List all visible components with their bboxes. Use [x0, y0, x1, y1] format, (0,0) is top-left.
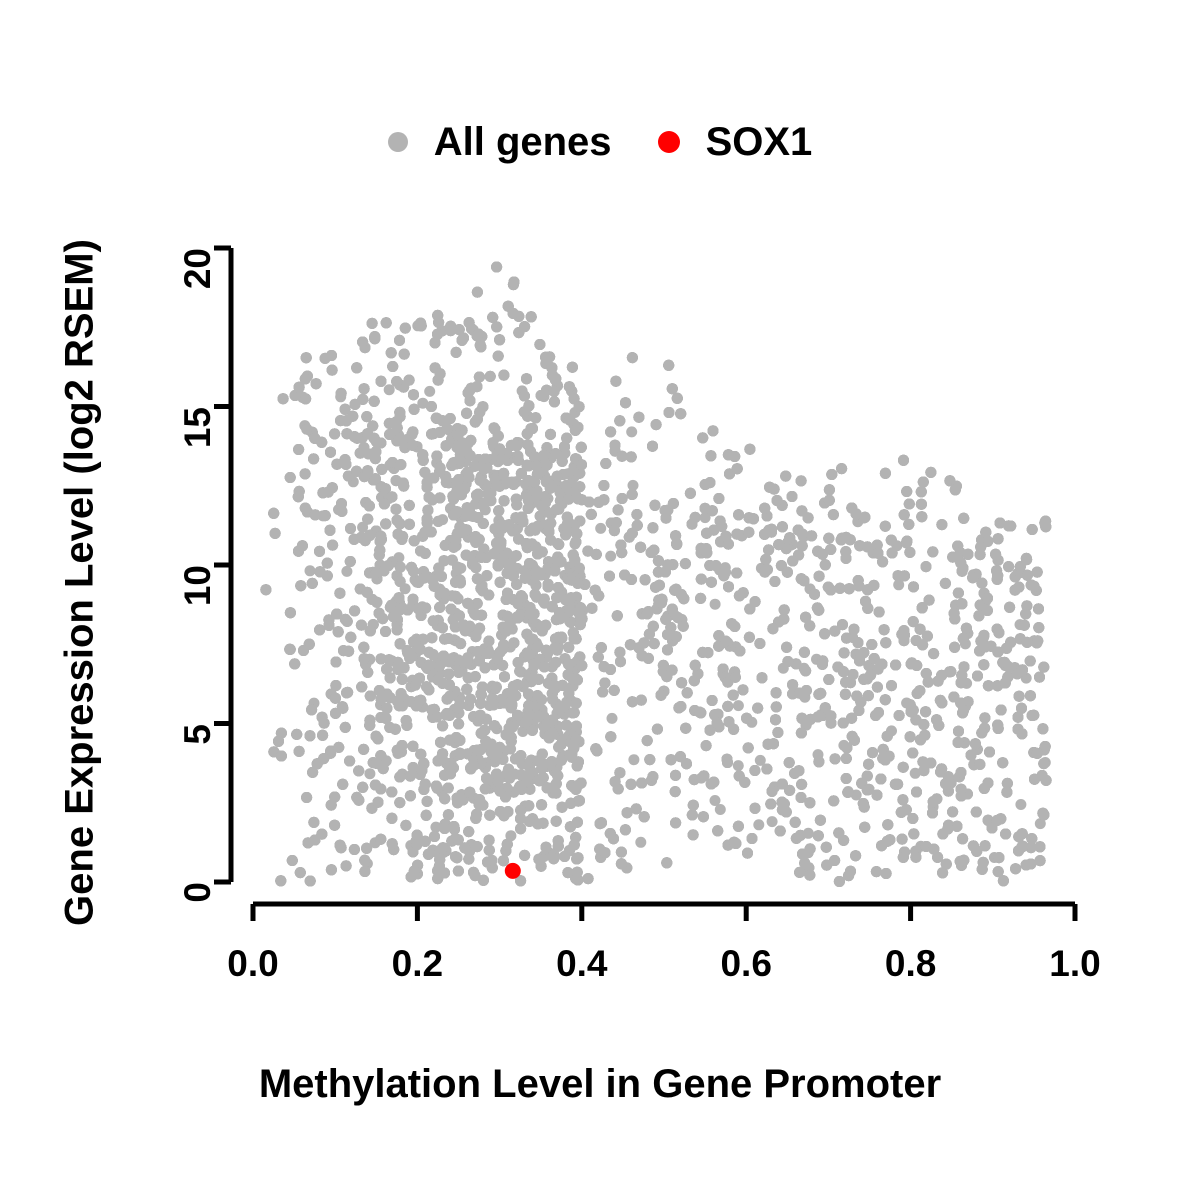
x-axis-title: Methylation Level in Gene Promoter [0, 1062, 1200, 1107]
legend-label-all-genes: All genes [434, 122, 612, 162]
y-tick-label: 0 [177, 882, 219, 903]
sox1-highlight-layer [505, 863, 521, 879]
legend: All genes SOX1 [0, 112, 1200, 172]
sox1-data-point[interactable] [505, 863, 521, 879]
legend-item-all-genes[interactable]: All genes [388, 122, 612, 162]
legend-marker-sox1-icon [658, 131, 680, 153]
legend-label-sox1: SOX1 [706, 122, 813, 162]
scatter-plot-figure: All genes SOX1 Methylation Level in Gene… [0, 0, 1200, 1200]
x-tick-label: 0.4 [556, 943, 607, 985]
x-tick-label: 0.8 [885, 943, 936, 985]
y-tick-label: 20 [177, 248, 219, 289]
x-tick-label: 0.0 [227, 943, 278, 985]
y-axis-title: Gene Expression Level (log2 RSEM) [58, 183, 103, 983]
data-points-layer [260, 262, 1051, 888]
y-tick-label: 15 [177, 407, 219, 448]
legend-item-sox1[interactable]: SOX1 [658, 122, 813, 162]
y-tick-label: 5 [177, 724, 219, 745]
legend-marker-all-genes-icon [388, 132, 408, 152]
x-tick-label: 1.0 [1049, 943, 1100, 985]
x-tick-label: 0.2 [392, 943, 443, 985]
x-tick-label: 0.6 [720, 943, 771, 985]
y-tick-label: 10 [177, 565, 219, 606]
